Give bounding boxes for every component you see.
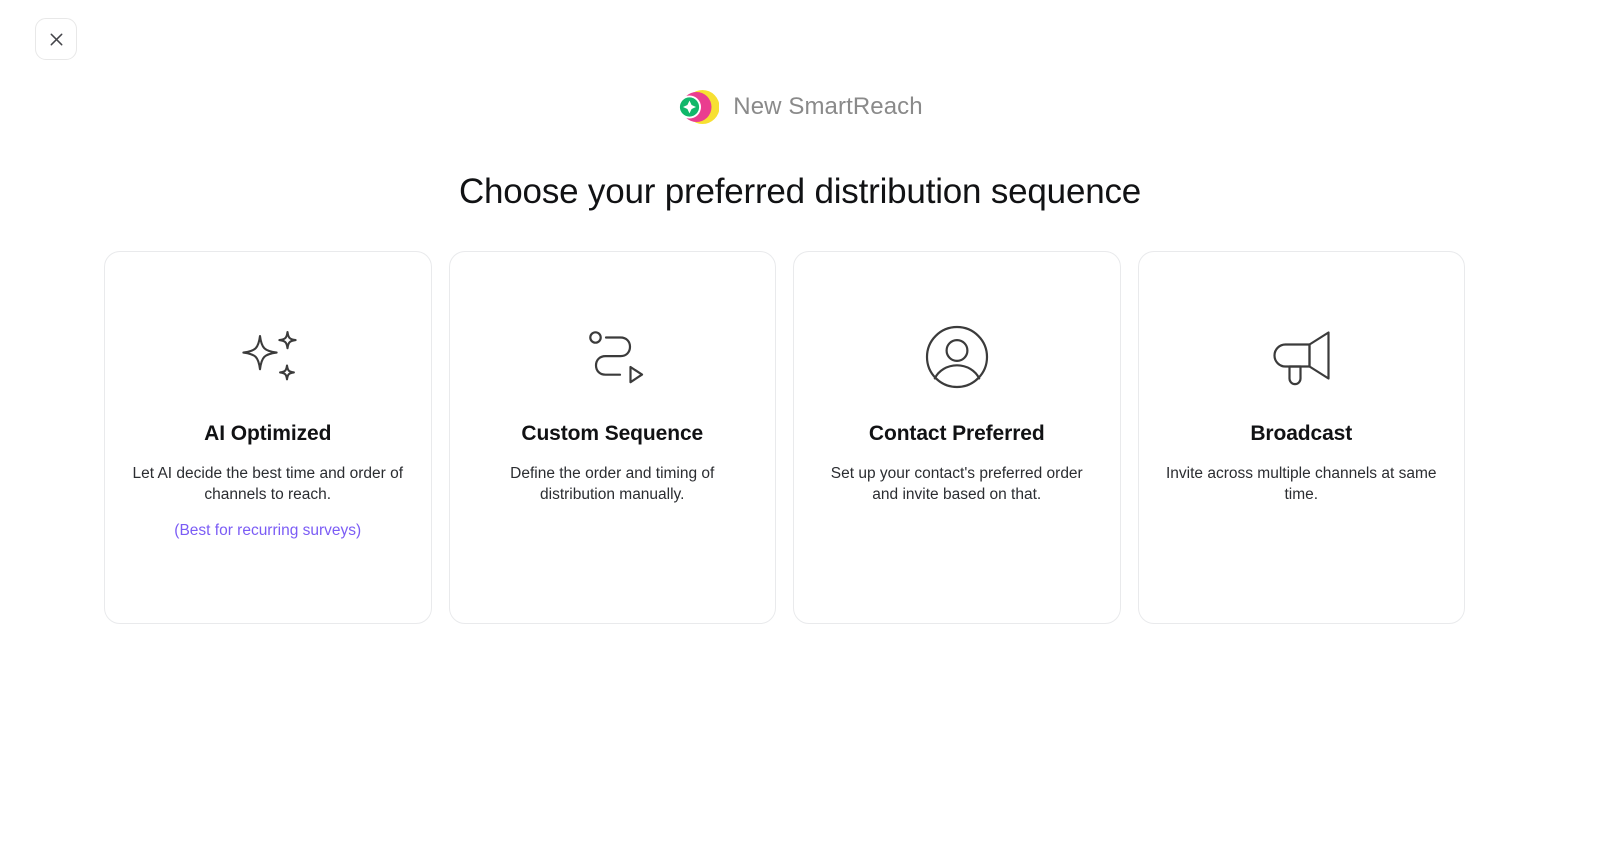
route-path-icon [574,318,650,396]
sparkles-icon [230,318,306,396]
option-title: AI Optimized [204,422,331,446]
option-description: Set up your contact's preferred order an… [820,463,1094,505]
page-title: Choose your preferred distribution seque… [0,172,1600,212]
brand-header: New SmartReach [0,88,1600,126]
option-note: (Best for recurring surveys) [174,520,361,541]
option-card-contact-preferred[interactable]: Contact Preferred Set up your contact's … [793,251,1121,624]
option-description: Define the order and timing of distribut… [475,463,749,505]
brand-name: New SmartReach [733,93,922,121]
option-title: Broadcast [1250,422,1352,446]
option-title: Custom Sequence [521,422,703,446]
user-circle-icon [921,318,993,396]
smartreach-logo-icon [677,88,719,126]
distribution-options-list: AI Optimized Let AI decide the best time… [104,251,1465,624]
smartreach-distribution-sequence-dialog: New SmartReach Choose your preferred dis… [0,0,1600,864]
option-card-ai-optimized[interactable]: AI Optimized Let AI decide the best time… [104,251,432,624]
close-icon [49,32,64,47]
option-title: Contact Preferred [869,422,1045,446]
option-description: Let AI decide the best time and order of… [131,463,405,505]
megaphone-icon [1262,318,1340,396]
option-description: Invite across multiple channels at same … [1164,463,1438,505]
option-card-custom-sequence[interactable]: Custom Sequence Define the order and tim… [449,251,777,624]
close-button[interactable] [35,18,77,60]
option-card-broadcast[interactable]: Broadcast Invite across multiple channel… [1138,251,1466,624]
